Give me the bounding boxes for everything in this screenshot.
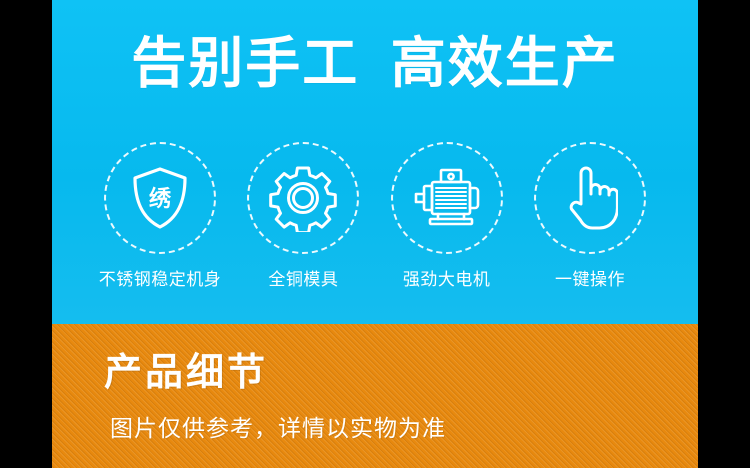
svg-text:绣: 绣 xyxy=(149,186,172,211)
feature-circle xyxy=(247,142,359,254)
promo-banner: 告别手工 高效生产 绣 不锈钢稳定机身 xyxy=(0,0,750,468)
feature-label: 强劲大电机 xyxy=(403,269,491,291)
feature-label: 一键操作 xyxy=(555,269,625,291)
feature-circle: 绣 xyxy=(104,142,216,254)
feature-circle xyxy=(534,142,646,254)
feature-row: 绣 不锈钢稳定机身 xyxy=(52,142,698,302)
feature-circle xyxy=(391,142,503,254)
feature-item-motor[interactable]: 强劲大电机 xyxy=(382,142,512,291)
detail-panel-subtitle: 图片仅供参考，详情以实物为准 xyxy=(110,413,446,443)
feature-label: 不锈钢稳定机身 xyxy=(99,269,222,291)
feature-panel: 告别手工 高效生产 绣 不锈钢稳定机身 xyxy=(52,0,698,324)
headline: 告别手工 高效生产 xyxy=(52,33,698,95)
detail-panel-title: 产品细节 xyxy=(104,350,268,396)
shield-icon: 绣 xyxy=(129,165,191,231)
feature-item-brass-mold[interactable]: 全铜模具 xyxy=(238,142,368,291)
content-column: 告别手工 高效生产 绣 不锈钢稳定机身 xyxy=(52,0,698,468)
feature-label: 全铜模具 xyxy=(268,269,338,291)
pointing-hand-icon xyxy=(562,164,618,232)
detail-panel: 产品细节 图片仅供参考，详情以实物为准 xyxy=(52,324,698,468)
electric-motor-icon xyxy=(410,167,484,229)
feature-item-one-key-operation[interactable]: 一键操作 xyxy=(525,142,655,291)
gear-icon xyxy=(269,164,337,232)
feature-item-stainless-body[interactable]: 绣 不锈钢稳定机身 xyxy=(95,142,225,291)
